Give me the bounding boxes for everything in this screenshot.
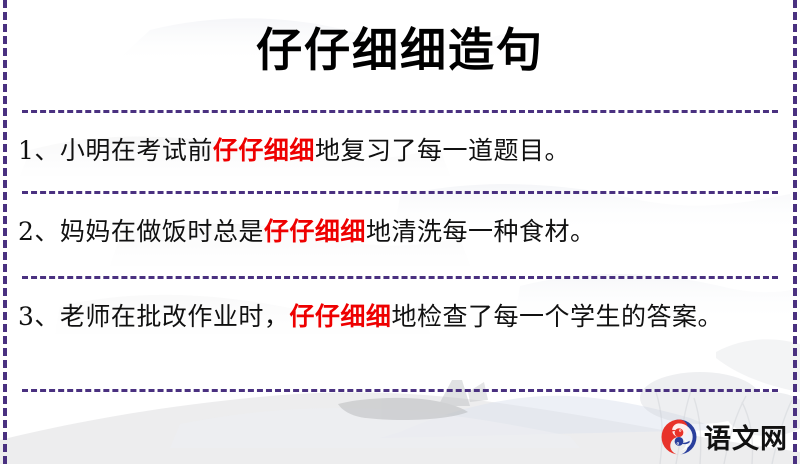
list-item: 1、小明在考试前仔仔细细地复习了每一道题目。 bbox=[18, 130, 774, 172]
yinyang-fish-logo-icon bbox=[660, 418, 698, 456]
sentence-number: 2、 bbox=[18, 217, 60, 246]
sentence-number: 3、 bbox=[18, 302, 60, 331]
highlighted-keyword: 仔仔细细 bbox=[264, 217, 366, 246]
list-item: 3、老师在批改作业时，仔仔细细地检查了每一个学生的答案。 bbox=[18, 296, 774, 338]
highlighted-keyword: 仔仔细细 bbox=[213, 136, 315, 165]
site-watermark: 语文网 bbox=[660, 417, 788, 456]
page-title: 仔仔细细造句 bbox=[0, 22, 800, 80]
sentence-text-before: 老师在批改作业时， bbox=[60, 302, 290, 331]
sentence-number: 1、 bbox=[18, 136, 60, 165]
sentence-text-after: 地清洗每一种食材。 bbox=[366, 217, 596, 246]
worksheet-page: 仔仔细细造句 1、小明在考试前仔仔细细地复习了每一道题目。 2、妈妈在做饭时总是… bbox=[0, 0, 800, 464]
divider-above-sentence-3 bbox=[22, 276, 778, 279]
divider-below-sentence-3 bbox=[22, 389, 778, 392]
list-item: 2、妈妈在做饭时总是仔仔细细地清洗每一种食材。 bbox=[18, 211, 774, 253]
sentence-text-after: 地复习了每一道题目。 bbox=[315, 136, 570, 165]
divider-above-sentence-1 bbox=[22, 110, 778, 113]
highlighted-keyword: 仔仔细细 bbox=[289, 302, 391, 331]
divider-above-sentence-2 bbox=[22, 191, 778, 194]
sentence-text-before: 妈妈在做饭时总是 bbox=[60, 217, 264, 246]
sentence-text-after: 地检查了每一个学生的答案。 bbox=[391, 302, 723, 331]
site-name-label: 语文网 bbox=[704, 417, 788, 456]
sentence-text-before: 小明在考试前 bbox=[60, 136, 213, 165]
